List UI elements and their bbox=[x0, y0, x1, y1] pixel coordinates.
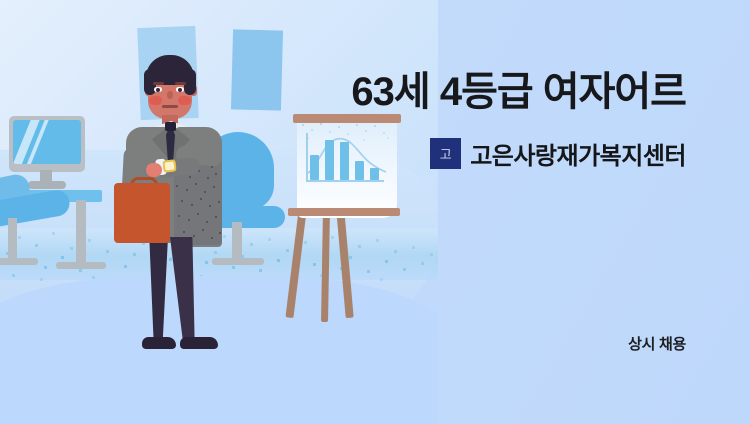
wristwatch-face bbox=[165, 162, 175, 171]
company-name[interactable]: 고은사랑재가복지센터 bbox=[470, 136, 686, 171]
desk-foot bbox=[56, 262, 106, 269]
necktie-knot bbox=[165, 122, 176, 131]
cheek-blush bbox=[149, 96, 162, 105]
eyebrow bbox=[153, 82, 164, 85]
monitor-screen bbox=[13, 120, 81, 164]
businessman-figure bbox=[120, 55, 240, 365]
desk-leg bbox=[76, 200, 86, 266]
pupil bbox=[156, 88, 160, 92]
chair-base bbox=[0, 258, 38, 265]
chair-post bbox=[8, 218, 17, 262]
monitor-base bbox=[28, 181, 66, 189]
trouser-leg bbox=[144, 237, 168, 341]
easel-bottom-rail bbox=[288, 208, 400, 216]
status-badge: 상시 채용 bbox=[300, 333, 686, 354]
shoe bbox=[142, 337, 176, 349]
easel-top-rail bbox=[293, 114, 401, 123]
pupil bbox=[178, 88, 182, 92]
job-posting-banner: 63세 4등급 여자어르 고 고은사랑재가복지센터 상시 채용 bbox=[0, 0, 750, 424]
company-row[interactable]: 고 고은사랑재가복지센터 bbox=[300, 136, 686, 171]
shoe bbox=[180, 337, 218, 349]
eyebrow bbox=[175, 82, 186, 85]
briefcase bbox=[114, 183, 170, 243]
hand-right bbox=[146, 163, 162, 177]
trouser-leg bbox=[170, 237, 198, 341]
office-illustration bbox=[0, 0, 438, 424]
page-title: 63세 4등급 여자어르 bbox=[300, 70, 686, 115]
company-logo-icon: 고 bbox=[430, 138, 461, 169]
cheek-blush bbox=[178, 96, 191, 105]
mouth bbox=[162, 105, 178, 108]
nose bbox=[167, 91, 173, 99]
